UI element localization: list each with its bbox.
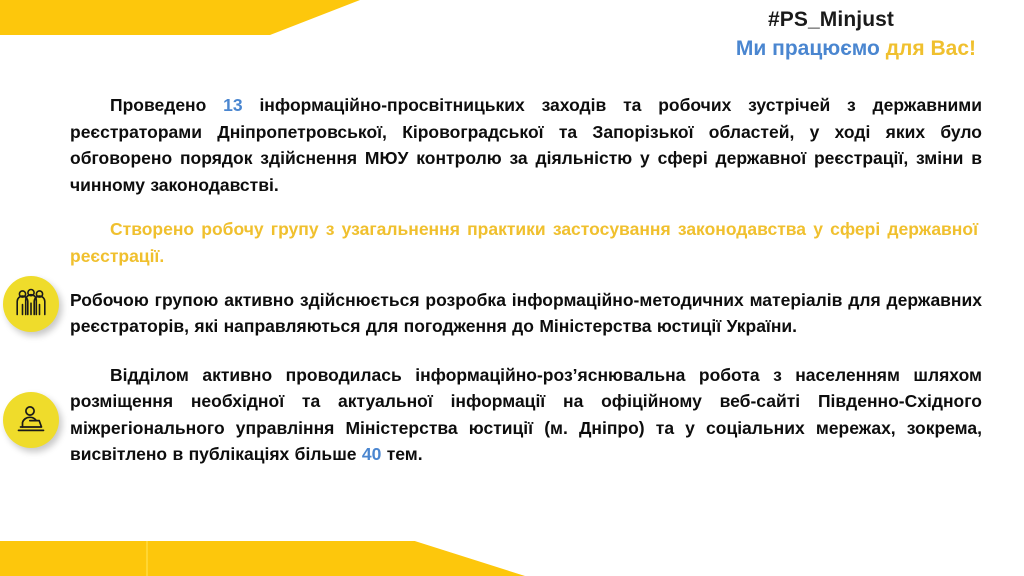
slide-header: #PS_Minjust Ми працюємо для Вас! xyxy=(736,8,976,62)
hashtag-title: #PS_Minjust xyxy=(736,8,894,33)
tagline-part-blue: Ми працюємо xyxy=(736,37,886,60)
publications-count-value: 40 xyxy=(362,444,381,464)
paragraph-public-outreach-tail: тем. xyxy=(381,444,422,464)
tagline: Ми працюємо для Вас! xyxy=(736,37,976,62)
paragraph-events-lead: Проведено xyxy=(110,95,223,115)
events-count-value: 13 xyxy=(223,95,242,115)
paragraph-working-group-highlight: Створено робочу групу з узагальнення пра… xyxy=(0,216,1024,269)
paragraph-events: Проведено 13 інформаційно-просвітницьких… xyxy=(0,92,1024,198)
decorative-bottom-band-seam xyxy=(146,541,148,576)
paragraph-public-outreach-lead: Відділом активно проводилась інформаційн… xyxy=(70,365,982,465)
slide-canvas: #PS_Minjust Ми працюємо для Вас! xyxy=(0,0,1024,576)
decorative-top-yellow-band xyxy=(0,0,360,35)
tagline-part-yellow: для Вас! xyxy=(886,37,976,60)
paragraph-methodical-materials: Робочою групою активно здійснюється розр… xyxy=(0,287,1024,340)
slide-body: Проведено 13 інформаційно-просвітницьких… xyxy=(0,92,1024,485)
paragraph-methodical-materials-text: Робочою групою активно здійснюється розр… xyxy=(70,290,982,337)
paragraph-public-outreach: Відділом активно проводилась інформаційн… xyxy=(0,362,1024,468)
paragraph-working-group-text: Створено робочу групу з узагальнення пра… xyxy=(70,219,978,266)
decorative-bottom-yellow-band xyxy=(0,541,525,576)
